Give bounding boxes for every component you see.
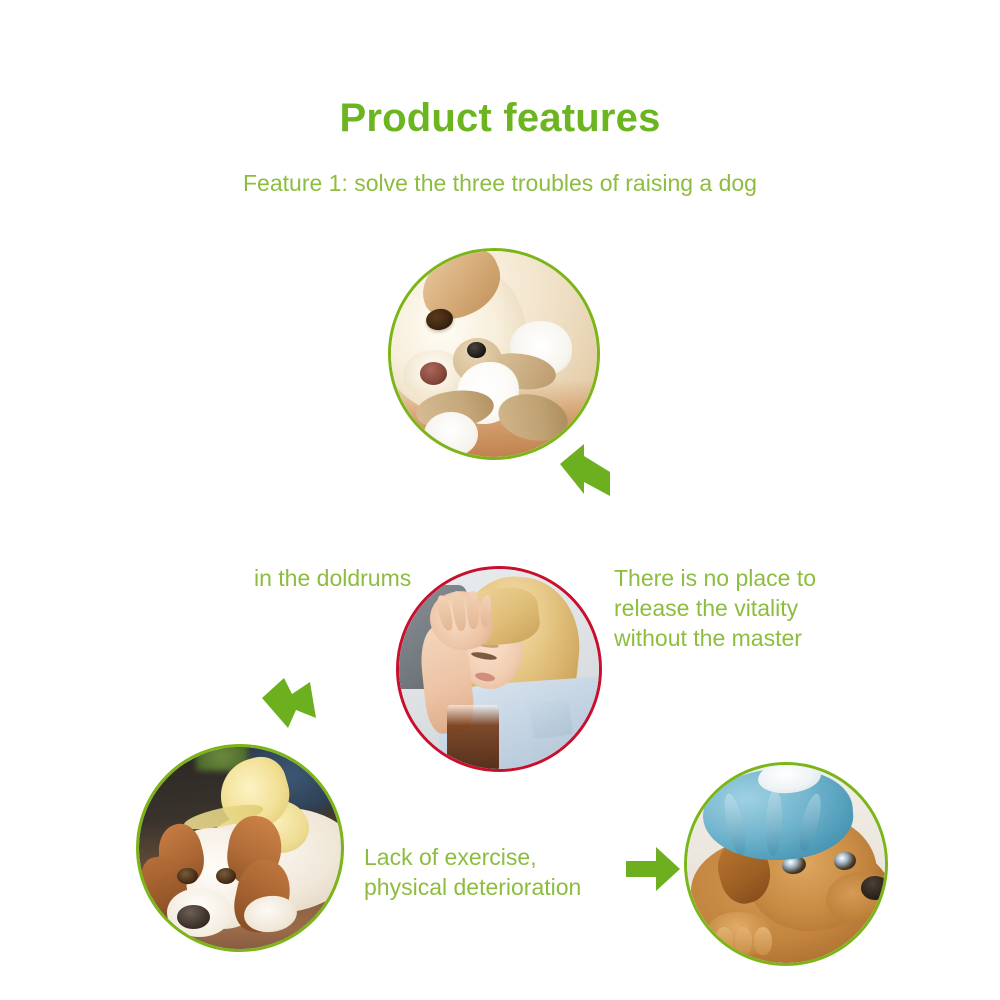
caption-in-the-doldrums: in the doldrums: [254, 563, 411, 593]
photo-sad-basset-hound: [136, 744, 344, 952]
caption-no-place-to-release-vitality: There is no place to release the vitalit…: [614, 563, 816, 653]
arrow-right-icon: [624, 845, 682, 893]
caption-lack-of-exercise: Lack of exercise, physical deterioration: [364, 842, 581, 902]
page-title: Product features: [0, 96, 1000, 141]
arrow-down-left-icon: [258, 672, 320, 734]
arrow-up-left-icon: [554, 442, 616, 498]
photo-puppy-chewing-plush-toy: [388, 248, 600, 460]
photo-sick-dog-with-ice-pack: [684, 762, 888, 966]
infographic-page: Product features Feature 1: solve the th…: [0, 0, 1000, 1000]
photo-stressed-woman: [396, 566, 602, 772]
page-subtitle: Feature 1: solve the three troubles of r…: [0, 170, 1000, 197]
